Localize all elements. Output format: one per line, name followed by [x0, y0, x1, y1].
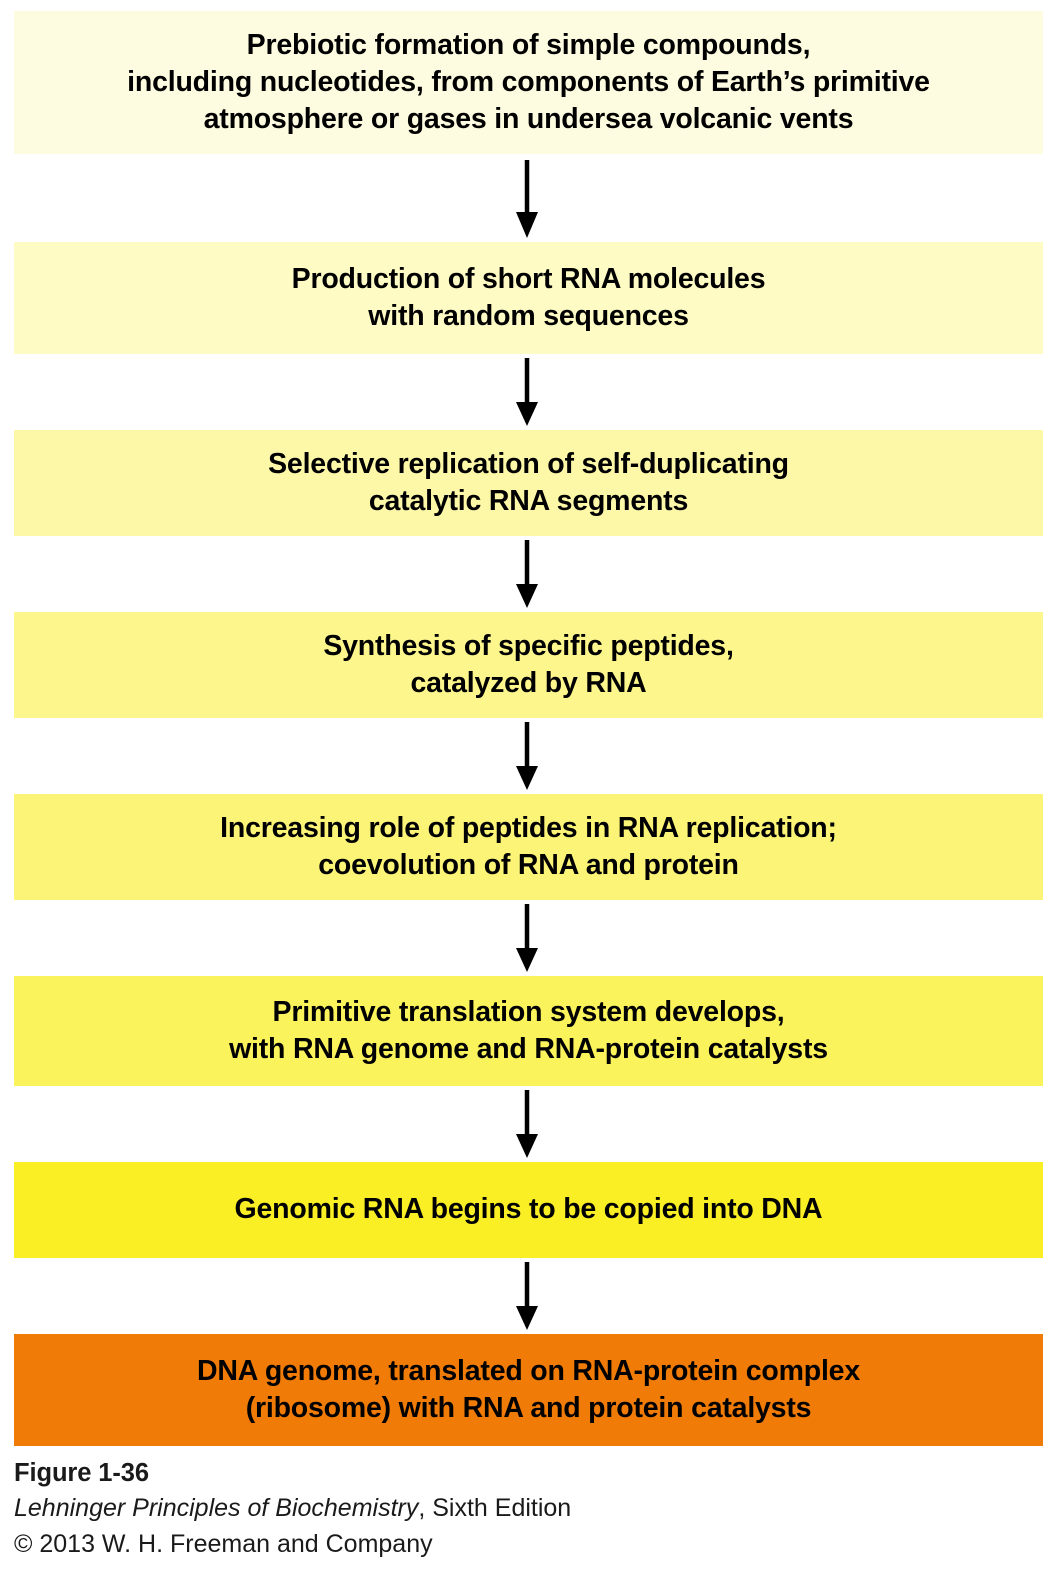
- flow-step-5: Increasing role of peptides in RNA repli…: [14, 794, 1043, 900]
- flow-step-1: Prebiotic formation of simple compounds,…: [14, 11, 1043, 154]
- flow-step-5-label: Increasing role of peptides in RNA repli…: [208, 810, 849, 885]
- flow-step-8-label: DNA genome, translated on RNA-protein co…: [185, 1353, 872, 1428]
- flow-step-6: Primitive translation system develops, w…: [14, 976, 1043, 1086]
- flow-arrow-3: [510, 540, 544, 610]
- flow-step-4-label: Synthesis of specific peptides, catalyze…: [311, 628, 745, 703]
- figure-caption: Figure 1-36 Lehninger Principles of Bioc…: [14, 1455, 1014, 1562]
- flow-arrow-6: [510, 1090, 544, 1160]
- flow-step-3: Selective replication of self-duplicatin…: [14, 430, 1043, 536]
- flowchart-diagram: Prebiotic formation of simple compounds,…: [0, 0, 1055, 1578]
- flow-arrow-7: [510, 1262, 544, 1332]
- figure-source: Lehninger Principles of Biochemistry, Si…: [14, 1491, 1014, 1527]
- flow-arrow-5: [510, 904, 544, 974]
- flow-arrow-1: [510, 160, 544, 240]
- flow-arrow-4: [510, 722, 544, 792]
- flow-step-7-label: Genomic RNA begins to be copied into DNA: [223, 1191, 835, 1228]
- flow-step-3-label: Selective replication of self-duplicatin…: [256, 446, 801, 521]
- flow-step-2: Production of short RNA molecules with r…: [14, 242, 1043, 354]
- book-title: Lehninger Principles of Biochemistry: [14, 1494, 418, 1522]
- flow-step-2-label: Production of short RNA molecules with r…: [280, 261, 778, 336]
- flow-step-4: Synthesis of specific peptides, catalyze…: [14, 612, 1043, 718]
- flow-step-7: Genomic RNA begins to be copied into DNA: [14, 1162, 1043, 1258]
- copyright-line: © 2013 W. H. Freeman and Company: [14, 1527, 1014, 1563]
- figure-number: Figure 1-36: [14, 1455, 1014, 1491]
- flow-step-1-label: Prebiotic formation of simple compounds,…: [115, 27, 942, 139]
- book-edition: , Sixth Edition: [418, 1494, 571, 1522]
- flow-step-6-label: Primitive translation system develops, w…: [217, 994, 840, 1069]
- flow-step-8: DNA genome, translated on RNA-protein co…: [14, 1334, 1043, 1446]
- flow-arrow-2: [510, 358, 544, 428]
